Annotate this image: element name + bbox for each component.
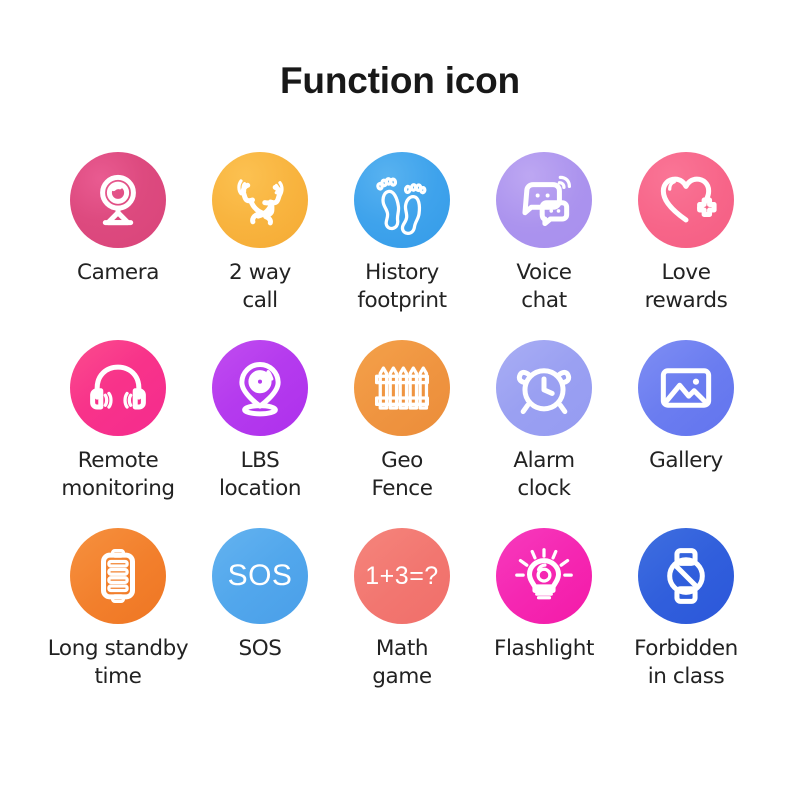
grid-cell-label: LBS location: [185, 447, 335, 503]
grid-cell-gallery[interactable]: Gallery: [615, 340, 757, 528]
grid-cell-label: Long standby time: [43, 635, 193, 691]
sos-text-icon[interactable]: SOS: [212, 528, 308, 624]
grid-cell-lbs-location[interactable]: LBS location: [189, 340, 331, 528]
footprints-icon[interactable]: [354, 152, 450, 248]
grid-cell-label: Remote monitoring: [43, 447, 193, 503]
alarm-clock-icon[interactable]: [496, 340, 592, 436]
grid-cell-label: Flashlight: [469, 635, 619, 663]
grid-cell-math-game[interactable]: 1+3=? Math game: [331, 528, 473, 716]
no-watch-icon[interactable]: [638, 528, 734, 624]
grid-cell-label: Love rewards: [611, 259, 761, 315]
grid-cell-label: History footprint: [327, 259, 477, 315]
grid-cell-label: Gallery: [611, 447, 761, 475]
lightbulb-icon[interactable]: [496, 528, 592, 624]
grid-cell-label: SOS: [185, 635, 335, 663]
math-equation-icon[interactable]: 1+3=?: [354, 528, 450, 624]
grid-cell-label: Voice chat: [469, 259, 619, 315]
headphones-icon[interactable]: [70, 340, 166, 436]
grid-cell-love-rewards[interactable]: Love rewards: [615, 152, 757, 340]
sos-glyph-label: SOS: [228, 561, 293, 591]
grid-cell-label: Alarm clock: [469, 447, 619, 503]
map-pin-icon[interactable]: [212, 340, 308, 436]
icon-grid: Camera: [47, 152, 759, 716]
function-icon-poster: Function icon Camera: [0, 0, 800, 800]
grid-cell-forbidden-in-class[interactable]: Forbidden in class: [615, 528, 757, 716]
grid-cell-flashlight[interactable]: Flashlight: [473, 528, 615, 716]
grid-cell-label: Geo Fence: [327, 447, 477, 503]
grid-cell-alarm-clock[interactable]: Alarm clock: [473, 340, 615, 528]
grid-cell-geo-fence[interactable]: Geo Fence: [331, 340, 473, 528]
grid-cell-label: Math game: [327, 635, 477, 691]
icon-grid-row: Long standby time SOS SOS 1+3=? Math gam…: [47, 528, 759, 716]
grid-cell-sos[interactable]: SOS SOS: [189, 528, 331, 716]
heart-plus-icon[interactable]: [638, 152, 734, 248]
grid-cell-label: Camera: [43, 259, 193, 287]
grid-cell-history-footprint[interactable]: History footprint: [331, 152, 473, 340]
webcam-icon[interactable]: [70, 152, 166, 248]
page-title: Function icon: [0, 60, 800, 102]
grid-cell-camera[interactable]: Camera: [47, 152, 189, 340]
icon-grid-row: Camera: [47, 152, 759, 340]
two-handsets-icon[interactable]: [212, 152, 308, 248]
grid-cell-remote-monitoring[interactable]: Remote monitoring: [47, 340, 189, 528]
grid-cell-label: Forbidden in class: [611, 635, 761, 691]
speech-bubbles-icon[interactable]: [496, 152, 592, 248]
icon-grid-row: Remote monitoring LBS location: [47, 340, 759, 528]
battery-icon[interactable]: [70, 528, 166, 624]
grid-cell-voice-chat[interactable]: Voice chat: [473, 152, 615, 340]
grid-cell-2-way-call[interactable]: 2 way call: [189, 152, 331, 340]
grid-cell-label: 2 way call: [185, 259, 335, 315]
image-icon[interactable]: [638, 340, 734, 436]
grid-cell-long-standby-time[interactable]: Long standby time: [47, 528, 189, 716]
math-glyph-label: 1+3=?: [365, 564, 438, 589]
fence-icon[interactable]: [354, 340, 450, 436]
